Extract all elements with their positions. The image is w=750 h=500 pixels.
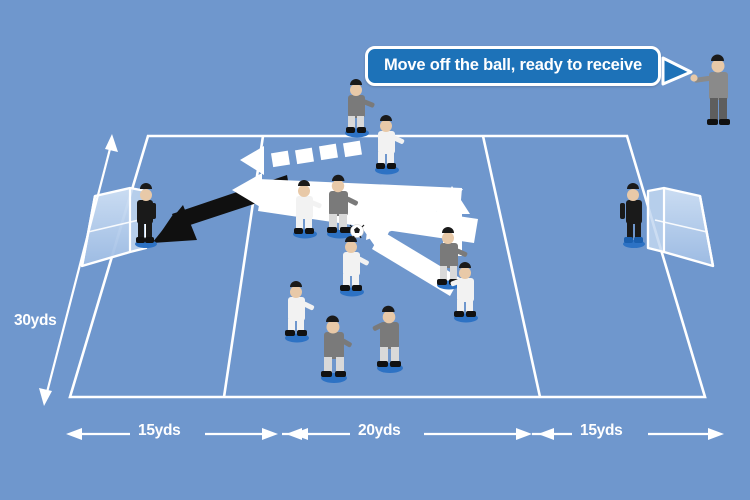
right-goal [648,188,713,266]
goalkeeper-right [620,183,645,248]
dimension-label-zone-3: 15yds [580,422,622,440]
player-grey-low-mid [372,306,403,373]
player-white-top [375,115,405,175]
zone-line-1 [224,136,263,397]
zone-line-2 [483,136,540,397]
dashed-pass-arrow [240,141,362,175]
player-white-left-low [285,281,315,343]
diagram-canvas: Move off the ball, ready to receive 30yd… [0,0,750,500]
left-goal [82,188,146,266]
dimension-label-zone-2: 20yds [358,422,400,440]
callout-tail [663,54,723,94]
dimension-label-depth: 30yds [14,312,56,330]
player-white-centre [340,236,370,297]
soccer-ball [350,225,364,239]
dimension-label-zone-1: 15yds [138,422,180,440]
player-grey-top [345,79,375,138]
coach-callout: Move off the ball, ready to receive [365,46,661,86]
player-grey-low-left [321,316,353,384]
callout-bubble: Move off the ball, ready to receive [365,46,661,86]
callout-text: Move off the ball, ready to receive [384,56,642,74]
